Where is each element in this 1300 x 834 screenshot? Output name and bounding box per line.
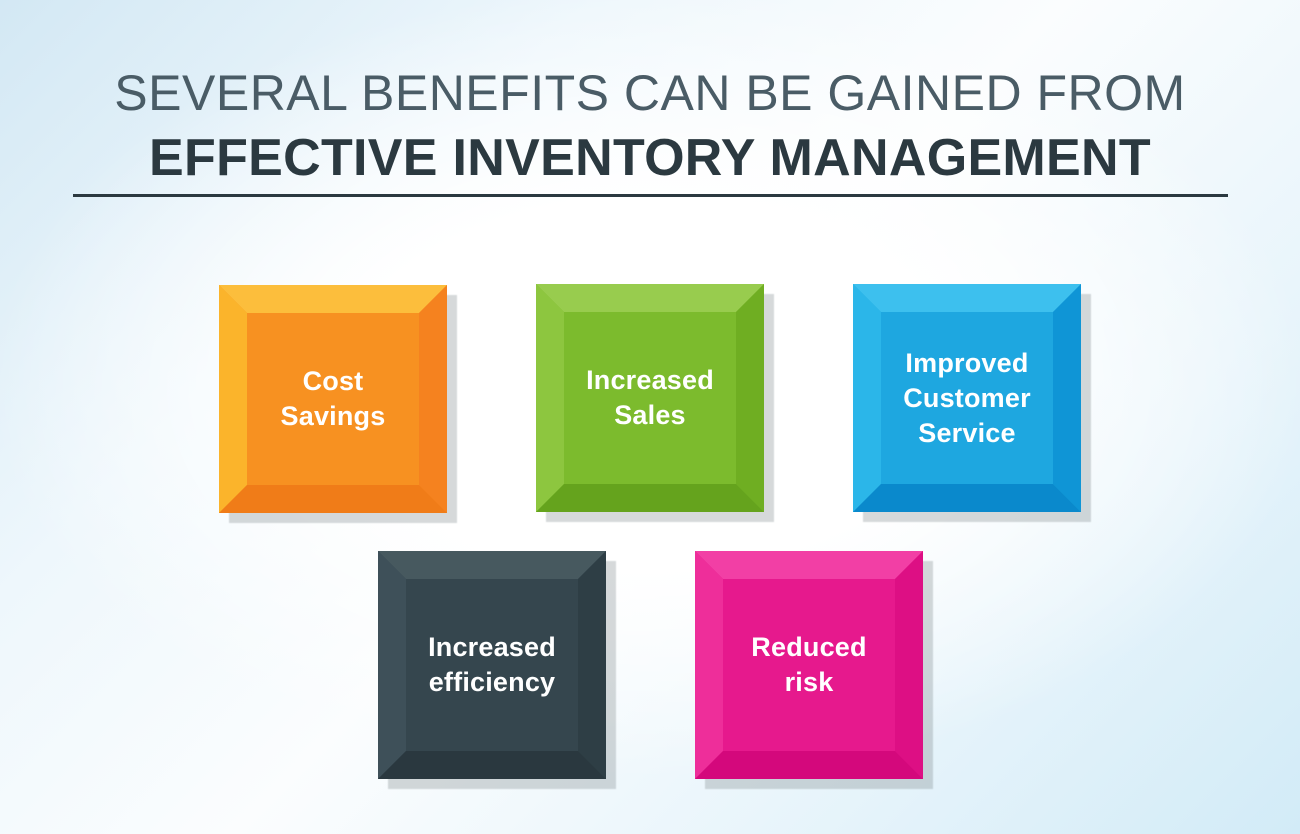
- bevel-bottom: [695, 751, 923, 779]
- page-title-line-1: SEVERAL BENEFITS CAN BE GAINED FROM: [0, 64, 1300, 122]
- benefit-box-cost-savings[interactable]: Cost Savings: [219, 285, 447, 513]
- title-underline-rule: [73, 194, 1228, 197]
- benefit-box-increased-efficiency[interactable]: Increased efficiency: [378, 551, 606, 779]
- box-label-improved-customer-service: Improved Customer Service: [903, 346, 1031, 451]
- bevel-left: [695, 551, 723, 779]
- bevel-left: [536, 284, 564, 512]
- benefit-box-improved-customer-service[interactable]: Improved Customer Service: [853, 284, 1081, 512]
- bevel-top: [219, 285, 447, 313]
- box-label-reduced-risk: Reduced risk: [751, 630, 866, 700]
- infographic-poster: SEVERAL BENEFITS CAN BE GAINED FROM EFFE…: [0, 0, 1300, 834]
- bevel-right: [578, 551, 606, 779]
- box-label-cost-savings: Cost Savings: [281, 364, 386, 434]
- bevel-bottom: [378, 751, 606, 779]
- bevel-bottom: [536, 484, 764, 512]
- bevel-left: [219, 285, 247, 513]
- bevel-right: [419, 285, 447, 513]
- box-face: Reduced risk: [723, 579, 895, 751]
- bevel-left: [378, 551, 406, 779]
- box-face: Cost Savings: [247, 313, 419, 485]
- page-title: SEVERAL BENEFITS CAN BE GAINED FROM EFFE…: [0, 64, 1300, 188]
- bevel-right: [1053, 284, 1081, 512]
- benefit-box-increased-sales[interactable]: Increased Sales: [536, 284, 764, 512]
- box-label-increased-sales: Increased Sales: [586, 363, 714, 433]
- bevel-top: [695, 551, 923, 579]
- page-title-line-2: EFFECTIVE INVENTORY MANAGEMENT: [0, 128, 1300, 188]
- bevel-right: [895, 551, 923, 779]
- bevel-bottom: [219, 485, 447, 513]
- box-face: Increased Sales: [564, 312, 736, 484]
- bevel-bottom: [853, 484, 1081, 512]
- bevel-top: [536, 284, 764, 312]
- benefit-box-reduced-risk[interactable]: Reduced risk: [695, 551, 923, 779]
- box-label-increased-efficiency: Increased efficiency: [428, 630, 556, 700]
- box-face: Increased efficiency: [406, 579, 578, 751]
- bevel-top: [853, 284, 1081, 312]
- box-face: Improved Customer Service: [881, 312, 1053, 484]
- bevel-right: [736, 284, 764, 512]
- bevel-left: [853, 284, 881, 512]
- bevel-top: [378, 551, 606, 579]
